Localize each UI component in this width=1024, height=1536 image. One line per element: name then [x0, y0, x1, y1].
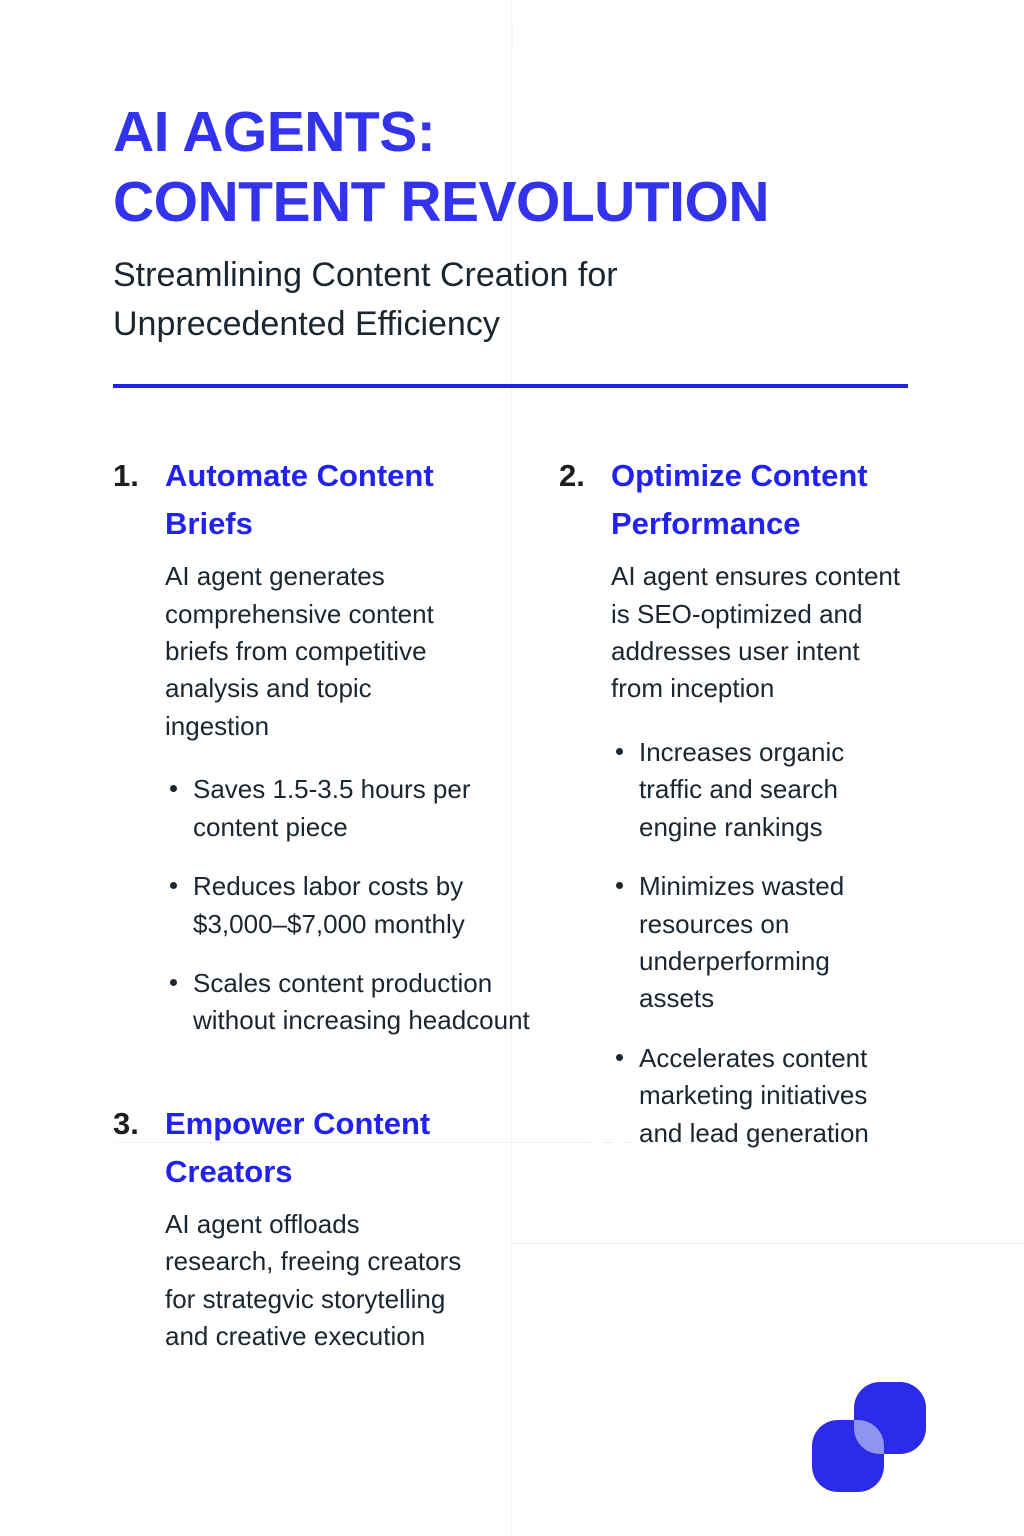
- list-item-3-heading: 3. Empower Content Creators: [113, 1100, 513, 1196]
- list-item-2-title: Optimize Content Performance: [611, 452, 911, 548]
- list-item-2-description: AI agent ensures content is SEO-optimize…: [611, 558, 916, 708]
- list-item-3: 3. Empower Content Creators AI agent off…: [113, 1100, 513, 1356]
- page-header: AI AGENTS: CONTENT REVOLUTION Streamlini…: [113, 0, 911, 388]
- page-title-line-2: CONTENT REVOLUTION: [113, 168, 911, 238]
- list-item-1-bullet-1: Saves 1.5-3.5 hours per content piece: [165, 771, 541, 846]
- list-item-2-bullet-3: Accelerates content marketing initiative…: [611, 1040, 899, 1152]
- list-item-2-bullet-1: Increases organic traffic and search eng…: [611, 734, 899, 846]
- list-item-3-description: AI agent offloads research, freeing crea…: [165, 1206, 470, 1356]
- page-title: AI AGENTS: CONTENT REVOLUTION: [113, 0, 911, 237]
- page-subtitle-line-1: Streamlining Content Creation for: [113, 251, 911, 300]
- list-item-1-number: 1.: [113, 452, 165, 500]
- content-columns: 1. Automate Content Briefs AI agent gene…: [0, 452, 1024, 1536]
- list-item-2-bullet-2: Minimizes wasted resources on underperfo…: [611, 868, 899, 1018]
- list-item-1-bullets: Saves 1.5-3.5 hours per content piece Re…: [113, 771, 453, 1040]
- list-item-3-number: 3.: [113, 1100, 165, 1148]
- page-subtitle-line-2: Unprecedented Efficiency: [113, 300, 911, 349]
- page-subtitle: Streamlining Content Creation for Unprec…: [113, 237, 911, 348]
- list-item-1-heading: 1. Automate Content Briefs: [113, 452, 513, 548]
- column-left: 1. Automate Content Briefs AI agent gene…: [113, 452, 513, 1382]
- list-item-1-bullet-2: Reduces labor costs by $3,000–$7,000 mon…: [165, 868, 541, 943]
- list-item-1-bullet-3: Scales content production without increa…: [165, 965, 541, 1040]
- list-item-2-heading: 2. Optimize Content Performance: [559, 452, 959, 548]
- list-item-2-bullets: Increases organic traffic and search eng…: [559, 734, 899, 1152]
- list-item-1-title: Automate Content Briefs: [165, 452, 465, 548]
- list-item-2-number: 2.: [559, 452, 611, 500]
- list-item-2: 2. Optimize Content Performance AI agent…: [559, 452, 959, 1152]
- list-item-1-description: AI agent generates comprehensive content…: [165, 558, 470, 745]
- column-right: 2. Optimize Content Performance AI agent…: [559, 452, 959, 1152]
- list-item-1: 1. Automate Content Briefs AI agent gene…: [113, 452, 513, 1040]
- list-item-3-title: Empower Content Creators: [165, 1100, 465, 1196]
- page-title-line-1: AI AGENTS:: [113, 98, 911, 168]
- overlapping-squircles-logo-icon: [812, 1382, 932, 1497]
- header-divider-rule: [113, 384, 908, 388]
